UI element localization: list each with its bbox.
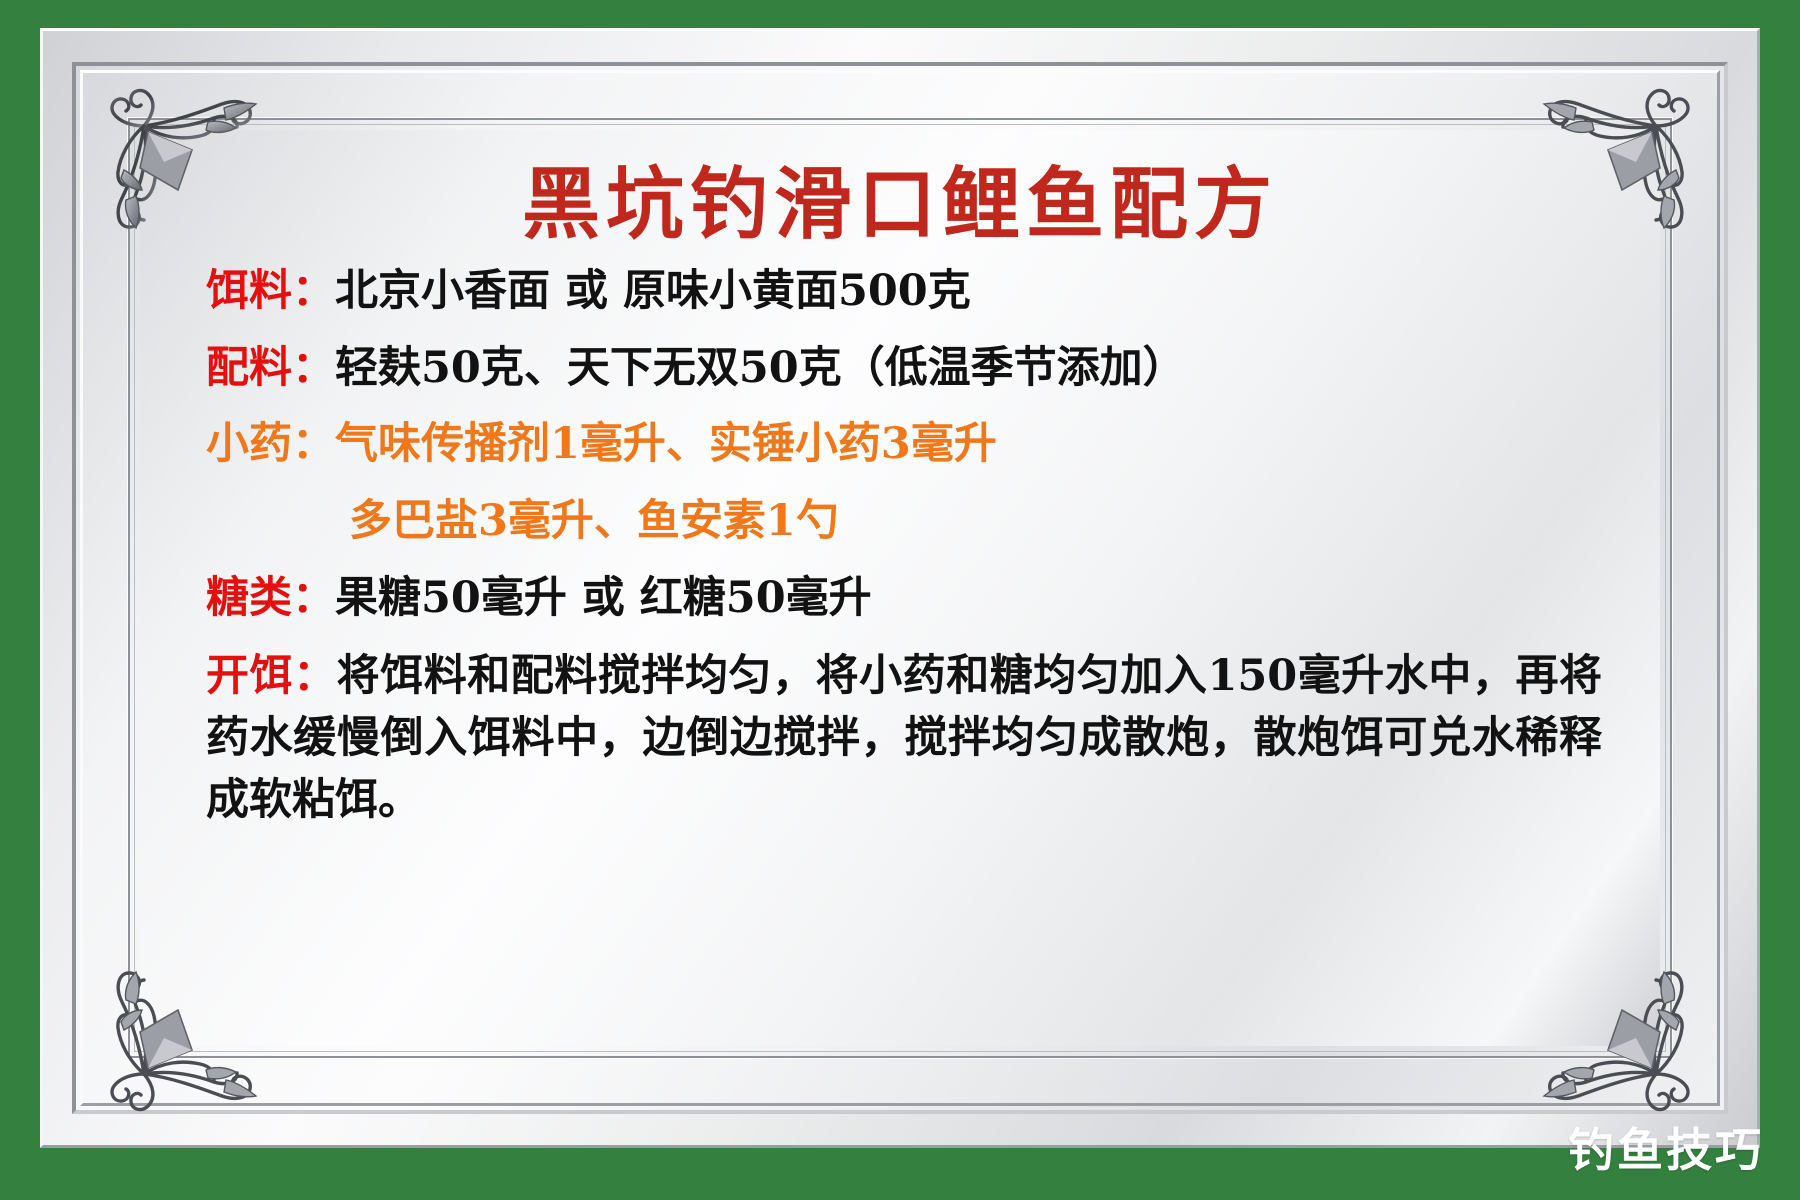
attractant-label: 小药： bbox=[206, 419, 335, 469]
additive-label: 配料： bbox=[206, 343, 335, 393]
watermark: 钓鱼技巧 bbox=[1568, 1114, 1764, 1180]
list-item-sugar: 糖类：果糖50毫升 或 红糖50毫升 bbox=[206, 567, 1602, 630]
attractant-value: 气味传播剂1毫升、实锤小药3毫升 bbox=[335, 419, 997, 469]
preparation-text: 将饵料和配料搅拌均匀，将小药和糖均匀加入150毫升水中，再将药水缓慢倒入饵料中，… bbox=[206, 651, 1602, 825]
recipe-content: 黑坑钓滑口鲤鱼配方 饵料：北京小香面 或 原味小黄面500克 配料：轻麸50克、… bbox=[150, 140, 1650, 1040]
list-item-bait: 饵料：北京小香面 或 原味小黄面500克 bbox=[206, 260, 1602, 323]
list-item-attractant: 小药：气味传播剂1毫升、实锤小药3毫升 bbox=[206, 413, 1602, 476]
attractant-value-second-line: 多巴盐3毫升、鱼安素1勺 bbox=[206, 490, 1602, 553]
ingredient-list: 饵料：北京小香面 或 原味小黄面500克 配料：轻麸50克、天下无双50克（低温… bbox=[150, 260, 1650, 832]
sugar-value: 果糖50毫升 或 红糖50毫升 bbox=[335, 573, 872, 623]
preparation-label: 开饵： bbox=[206, 651, 337, 701]
additive-value: 轻麸50克、天下无双50克（低温季节添加） bbox=[335, 343, 1186, 393]
bait-value: 北京小香面 或 原味小黄面500克 bbox=[335, 266, 971, 316]
sugar-label: 糖类： bbox=[206, 573, 335, 623]
poster-canvas: 黑坑钓滑口鲤鱼配方 饵料：北京小香面 或 原味小黄面500克 配料：轻麸50克、… bbox=[0, 0, 1800, 1200]
page-title: 黑坑钓滑口鲤鱼配方 bbox=[150, 164, 1650, 246]
list-item-additive: 配料：轻麸50克、天下无双50克（低温季节添加） bbox=[206, 337, 1602, 400]
bait-label: 饵料： bbox=[206, 266, 335, 316]
preparation-instructions: 开饵：将饵料和配料搅拌均匀，将小药和糖均匀加入150毫升水中，再将药水缓慢倒入饵… bbox=[206, 646, 1602, 832]
